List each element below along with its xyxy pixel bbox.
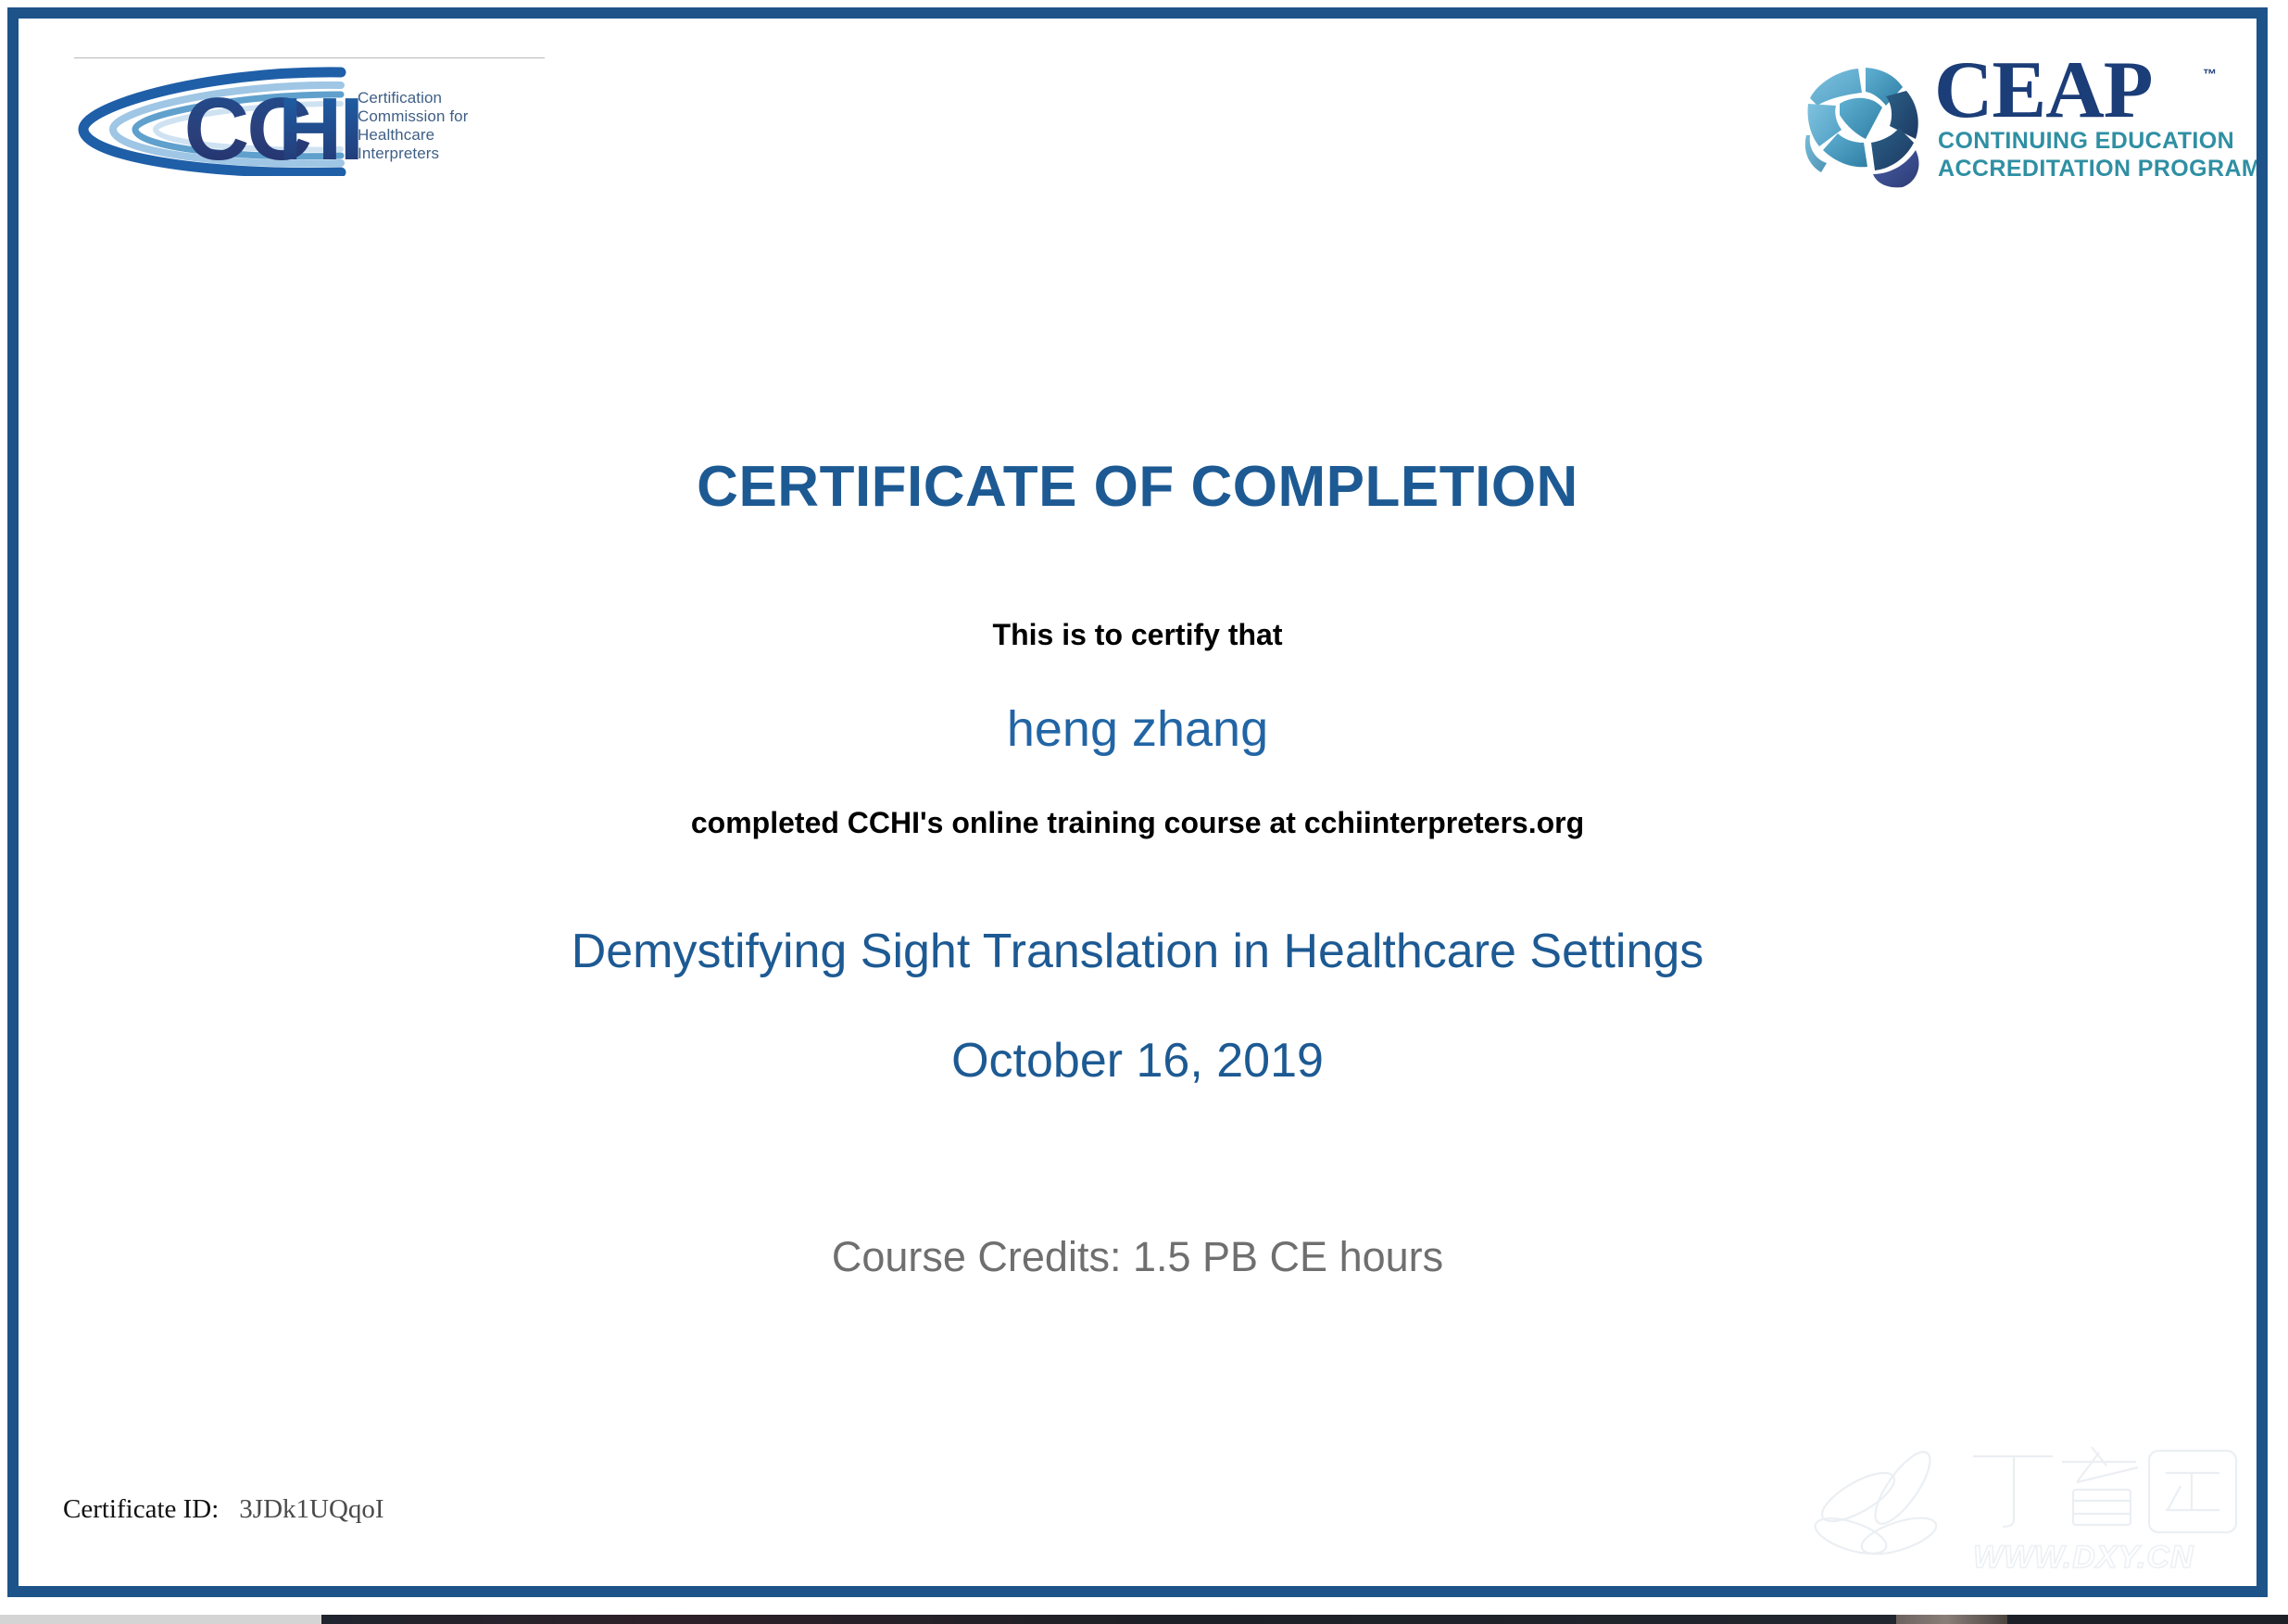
cchi-tagline: Certification Commission for Healthcare … — [358, 89, 543, 163]
chrome-dark-segment-1 — [321, 1615, 1896, 1624]
ceap-wordmark: CEAP — [1934, 50, 2212, 130]
certificate-document: CC HI Certification Commission for Healt… — [7, 7, 2268, 1597]
chrome-scrollbar-track[interactable] — [0, 1615, 321, 1624]
certificate-body: CERTIFICATE OF COMPLETION This is to cer… — [19, 454, 2257, 1281]
course-date: October 16, 2019 — [19, 1033, 2257, 1089]
ceap-trademark-symbol: ™ — [2203, 67, 2217, 82]
cchi-divider-rule — [74, 57, 545, 58]
svg-text:HI: HI — [278, 80, 361, 176]
certificate-id: Certificate ID:3JDk1UQqoI — [63, 1494, 384, 1525]
screenshot-page: CC HI Certification Commission for Healt… — [0, 0, 2288, 1624]
course-title: Demystifying Sight Translation in Health… — [19, 924, 2257, 979]
recipient-name: heng zhang — [19, 700, 2257, 758]
cchi-tagline-line-4: Interpreters — [358, 145, 543, 163]
certificate-id-label: Certificate ID: — [63, 1494, 219, 1524]
certificate-id-value: 3JDk1UQqoI — [239, 1494, 383, 1524]
svg-text:CEAP: CEAP — [1934, 50, 2153, 130]
cchi-tagline-line-1: Certification — [358, 89, 543, 107]
certify-statement: This is to certify that — [19, 618, 2257, 652]
page-title: CERTIFICATE OF COMPLETION — [19, 454, 2257, 520]
cchi-tagline-line-2: Commission for — [358, 107, 543, 126]
ceap-globe-icon — [1793, 50, 1932, 189]
cchi-logo: CC HI Certification Commission for Healt… — [63, 57, 554, 178]
ceap-subtitle-line-1: CONTINUING EDUCATION — [1938, 128, 2234, 155]
cchi-tagline-line-3: Healthcare — [358, 126, 543, 145]
ceap-logo: CEAP ™ CONTINUING EDUCATION ACCREDITATIO… — [1793, 44, 2219, 193]
completion-statement: completed CCHI's online training course … — [19, 806, 2257, 840]
bottom-chrome-strip — [0, 1612, 2288, 1624]
chrome-dark-segment-3 — [2007, 1615, 2288, 1624]
chrome-dark-segment-2 — [1896, 1615, 2007, 1624]
ceap-subtitle-line-2: ACCREDITATION PROGRAM — [1938, 156, 2261, 183]
svg-text:WWW.DXY.CN: WWW.DXY.CN — [1973, 1540, 2194, 1575]
course-credits: Course Credits: 1.5 PB CE hours — [19, 1233, 2257, 1281]
dxy-watermark: WWW.DXY.CN — [1814, 1440, 2249, 1579]
